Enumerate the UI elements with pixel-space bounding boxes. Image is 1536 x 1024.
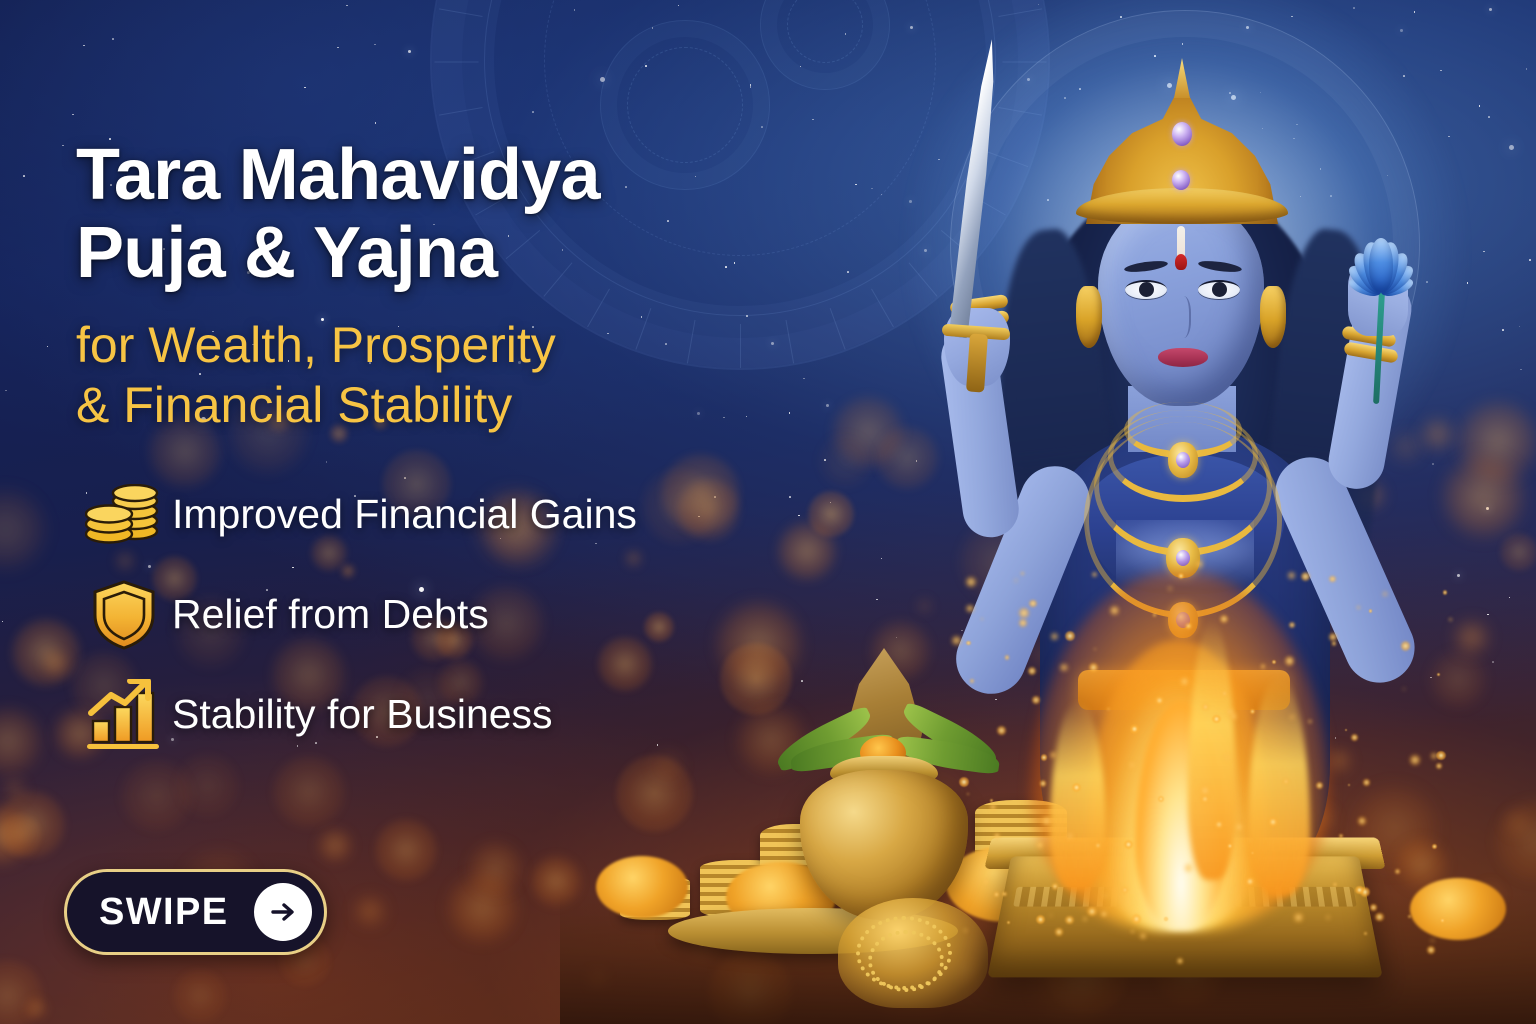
title-line-2: Puja & Yajna [76, 214, 816, 292]
zodiac-tick [830, 308, 846, 350]
bokeh-light [1500, 533, 1536, 571]
star [1414, 11, 1416, 13]
star [62, 145, 64, 147]
star [1519, 326, 1521, 328]
bokeh-light [1502, 808, 1532, 838]
swipe-label: SWIPE [99, 891, 228, 934]
marigold-cluster-4 [1410, 878, 1506, 940]
bokeh-light [0, 814, 42, 857]
arrow-right-icon[interactable] [254, 883, 312, 941]
page-subtitle: for Wealth, Prosperity & Financial Stabi… [76, 315, 816, 435]
title-line-1: Tara Mahavidya [76, 136, 816, 214]
bokeh-light [4, 778, 25, 799]
star [1486, 507, 1489, 510]
star [72, 114, 74, 116]
bokeh-light [0, 791, 65, 858]
deity-nose [1173, 296, 1191, 338]
star [1509, 145, 1514, 150]
bindi-mark [1175, 254, 1187, 270]
star [532, 111, 534, 113]
star [1353, 7, 1355, 9]
bokeh-light [356, 897, 384, 925]
list-item: Relief from Debts [76, 579, 816, 651]
star [826, 404, 829, 407]
list-item: Improved Financial Gains [76, 479, 816, 551]
star [812, 119, 814, 121]
zodiac-tick [439, 8, 483, 17]
star [47, 346, 49, 348]
bokeh-light [0, 805, 30, 864]
star [855, 184, 857, 186]
pendant-1 [1168, 442, 1198, 478]
star [2, 621, 4, 623]
star [876, 599, 878, 601]
page-title: Tara Mahavidya Puja & Yajna [76, 136, 816, 293]
star [23, 175, 25, 177]
growth-chart-icon [76, 679, 172, 751]
star [408, 50, 411, 53]
bokeh-light [0, 490, 45, 569]
subtitle-line-1: for Wealth, Prosperity [76, 315, 816, 375]
bokeh-light [318, 829, 351, 862]
list-item-label: Stability for Business [172, 691, 553, 738]
star [824, 459, 826, 461]
blue-lotus-icon [1326, 206, 1436, 302]
mandala-motif-small-2 [760, 0, 890, 90]
star [574, 9, 576, 11]
star [1489, 8, 1492, 11]
pendant-gem-1 [1176, 452, 1190, 468]
bokeh-light [25, 997, 47, 1019]
marigold-cluster-1 [596, 856, 688, 918]
list-item-label: Relief from Debts [172, 591, 489, 638]
star [374, 44, 376, 46]
bokeh-light [375, 819, 437, 881]
star [1483, 251, 1485, 253]
star [830, 502, 832, 504]
bokeh-light [1495, 800, 1536, 882]
star [1509, 597, 1511, 599]
star [847, 271, 849, 273]
earring-left [1076, 286, 1102, 348]
earring-right [1260, 286, 1286, 348]
star [1487, 614, 1489, 616]
star [871, 188, 873, 190]
benefits-list: Improved Financial Gains [76, 479, 816, 751]
pendant-gem-2 [1176, 550, 1190, 566]
star [1526, 68, 1528, 70]
star [910, 26, 913, 29]
bokeh-light [0, 708, 41, 774]
bead-chain-2 [868, 930, 944, 992]
deity-lips [1158, 348, 1208, 367]
crown-tip [1174, 58, 1190, 98]
star [375, 122, 377, 124]
star [304, 87, 306, 89]
sword-icon [940, 37, 1006, 338]
star [1529, 259, 1531, 261]
deity-pupil-right [1212, 282, 1227, 297]
bokeh-light [0, 960, 43, 1024]
star [1520, 369, 1522, 371]
bokeh-light [820, 435, 872, 487]
crown-gem-top [1172, 122, 1192, 146]
star [83, 45, 85, 47]
swipe-button[interactable]: SWIPE [64, 869, 327, 955]
crown-gem-center [1172, 170, 1190, 190]
star [337, 47, 339, 49]
bokeh-light [12, 619, 79, 686]
subtitle-line-2: & Financial Stability [76, 375, 816, 435]
lotus-petal [1369, 238, 1393, 292]
star [1488, 116, 1490, 118]
star [5, 390, 7, 392]
bokeh-light [42, 650, 69, 677]
gold-coins-icon [76, 484, 172, 546]
star [1492, 661, 1494, 663]
poster-content: Tara Mahavidya Puja & Yajna for Wealth, … [76, 136, 816, 779]
list-item: Stability for Business [76, 679, 816, 751]
deity-pupil-left [1139, 282, 1154, 297]
poster-canvas: Tara Mahavidya Puja & Yajna for Wealth, … [0, 0, 1536, 1024]
zodiac-tick [435, 62, 479, 63]
bokeh-light [469, 842, 522, 895]
star [346, 5, 348, 7]
shield-icon [76, 579, 172, 651]
zodiac-tick [439, 107, 483, 116]
list-item-label: Improved Financial Gains [172, 491, 637, 538]
star [678, 5, 680, 7]
star [112, 38, 114, 40]
star [1502, 329, 1504, 331]
bokeh-light [173, 969, 227, 1023]
bokeh-light [448, 874, 516, 942]
star [1038, 4, 1040, 6]
